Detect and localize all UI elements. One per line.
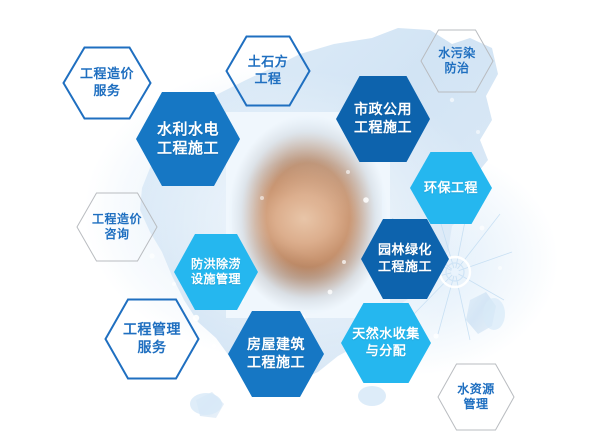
hexagon-engineering-cost-service[interactable]: 工程造价服务 — [62, 46, 152, 120]
hexagon-label-line: 工程 — [248, 71, 289, 88]
hexagon-label-line: 设施管理 — [191, 272, 241, 287]
hainan-shape — [196, 392, 224, 418]
hexagon-label-line: 咨询 — [92, 227, 142, 242]
hexagon-label-line: 与分配 — [352, 343, 420, 360]
hexagon-label-line: 服务 — [80, 83, 134, 100]
hexagon-label-line: 工程施工 — [378, 259, 432, 276]
hexagon-label-line: 管理 — [457, 397, 495, 412]
hexagon-label: 工程造价服务 — [80, 66, 134, 99]
hexagon-label: 天然水收集与分配 — [352, 326, 420, 359]
hexagon-label: 土石方工程 — [248, 54, 289, 87]
hexagon-municipal-public-works-construction[interactable]: 市政公用工程施工 — [336, 76, 430, 162]
hexagon-label-line: 水利水电 — [157, 120, 219, 139]
taiwan-shape — [466, 292, 496, 334]
hexagon-landscaping-engineering-construction[interactable]: 园林绿化工程施工 — [361, 219, 449, 299]
hexagon-label-line: 防治 — [438, 61, 476, 76]
hexagon-engineering-management-service[interactable]: 工程管理服务 — [104, 298, 200, 380]
hexagon-label-line: 工程施工 — [354, 119, 412, 137]
hexagon-label-line: 防洪除涝 — [191, 257, 241, 272]
hexagon-label-line: 服务 — [123, 339, 181, 357]
hexagon-label-line: 天然水收集 — [352, 326, 420, 343]
hexagon-label-line: 土石方 — [248, 54, 289, 71]
hexagon-label-line: 环保工程 — [424, 180, 478, 197]
hexagon-natural-water-collection-distribution[interactable]: 天然水收集与分配 — [341, 303, 431, 383]
hexagon-water-resources-management[interactable]: 水资源管理 — [437, 363, 515, 431]
hexagon-label: 工程造价咨询 — [92, 212, 142, 243]
hexagon-label: 环保工程 — [424, 180, 478, 197]
hexagon-label-line: 工程施工 — [157, 139, 219, 158]
hexagon-water-pollution-control[interactable]: 水污染防治 — [420, 29, 494, 93]
hexagon-label-line: 工程施工 — [247, 354, 305, 372]
hexagon-label-line: 市政公用 — [354, 101, 412, 119]
hexagon-infographic: 工程造价服务土石方工程水利水电工程施工市政公用工程施工水污染防治环保工程工程造价… — [0, 0, 600, 439]
hexagon-label-line: 园林绿化 — [378, 242, 432, 259]
hexagon-label-line: 工程造价 — [92, 212, 142, 227]
hexagon-earthwork-engineering[interactable]: 土石方工程 — [225, 35, 311, 107]
hexagon-label: 水污染防治 — [438, 46, 476, 77]
hexagon-environmental-protection-engineering[interactable]: 环保工程 — [410, 152, 492, 224]
hexagon-label: 房屋建筑工程施工 — [247, 336, 305, 372]
hexagon-label: 市政公用工程施工 — [354, 101, 412, 137]
hexagon-label: 防洪除涝设施管理 — [191, 257, 241, 288]
hexagon-housing-construction-engineering[interactable]: 房屋建筑工程施工 — [228, 311, 324, 397]
hexagon-label-line: 水资源 — [457, 382, 495, 397]
hexagon-label: 工程管理服务 — [123, 321, 181, 357]
hexagon-label-line: 水污染 — [438, 46, 476, 61]
hexagon-label: 水利水电工程施工 — [157, 120, 219, 158]
hexagon-label: 水资源管理 — [457, 382, 495, 413]
hexagon-engineering-cost-consulting[interactable]: 工程造价咨询 — [76, 192, 158, 262]
hexagon-label-line: 工程造价 — [80, 66, 134, 83]
hexagon-label: 园林绿化工程施工 — [378, 242, 432, 275]
hexagon-label-line: 工程管理 — [123, 321, 181, 339]
hexagon-label-line: 房屋建筑 — [247, 336, 305, 354]
